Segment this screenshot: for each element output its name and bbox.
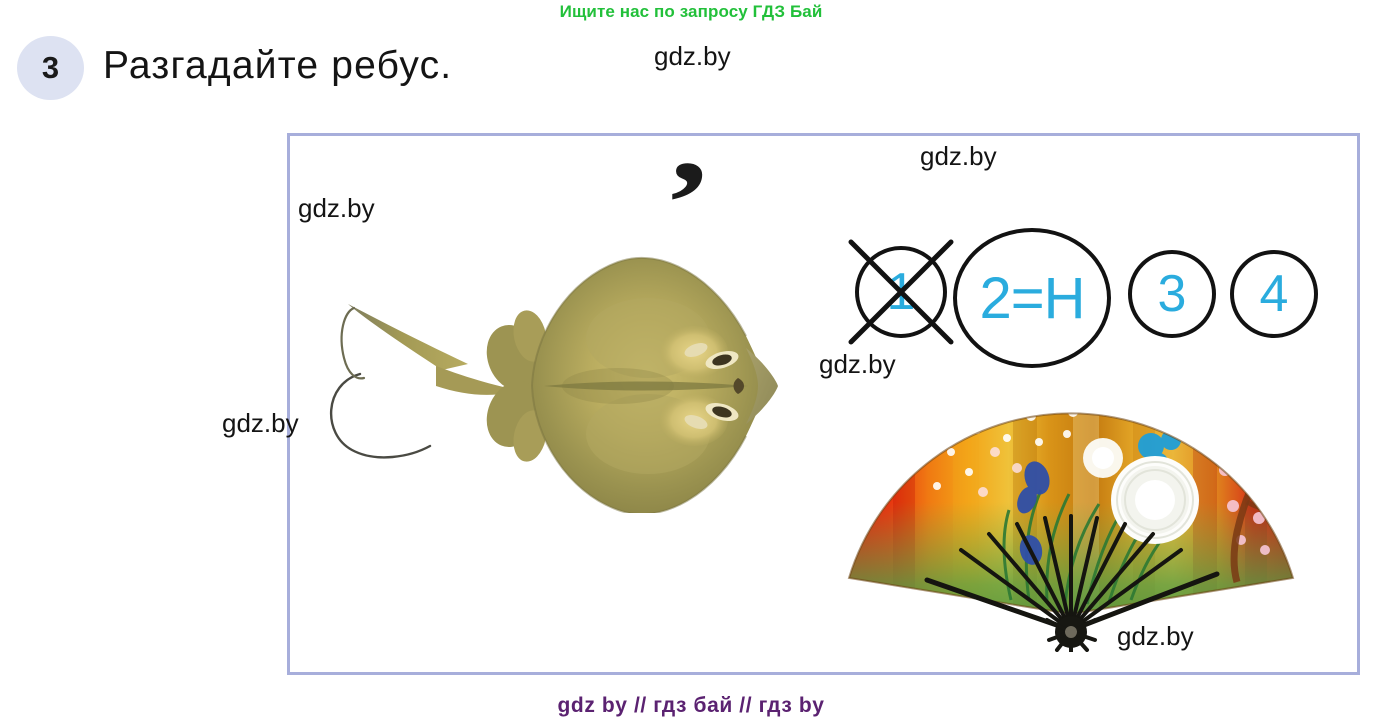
watermark-near-circles: gdz.by xyxy=(819,349,896,380)
circle-4-label: 4 xyxy=(1260,264,1289,324)
footer-text: gdz by // гдз бай // гдз by xyxy=(0,694,1382,718)
circle-1[interactable]: 1 xyxy=(855,246,947,338)
circle-2-label: 2=Н xyxy=(979,265,1084,332)
circle-1-label: 1 xyxy=(887,262,916,322)
watermark-stingray-top-left: gdz.by xyxy=(298,193,375,224)
watermark-near-fan: gdz.by xyxy=(1117,621,1194,652)
circle-2[interactable]: 2=Н xyxy=(953,228,1111,368)
watermark-stingray-bottom-left: gdz.by xyxy=(222,408,299,439)
circle-4[interactable]: 4 xyxy=(1230,250,1318,338)
circle-3[interactable]: 3 xyxy=(1128,250,1216,338)
task-number-badge: 3 xyxy=(17,36,84,100)
comma-symbol: ’ xyxy=(663,143,713,263)
folding-fan-image xyxy=(841,382,1301,652)
stingray-image xyxy=(318,238,788,513)
promo-banner-text: Ищите нас по запросу ГДЗ Бай xyxy=(0,2,1382,22)
page-title: Разгадайте ребус. xyxy=(103,44,452,88)
watermark-top: gdz.by xyxy=(654,41,731,72)
circle-3-label: 3 xyxy=(1158,264,1187,324)
watermark-frame-top-right: gdz.by xyxy=(920,141,997,172)
